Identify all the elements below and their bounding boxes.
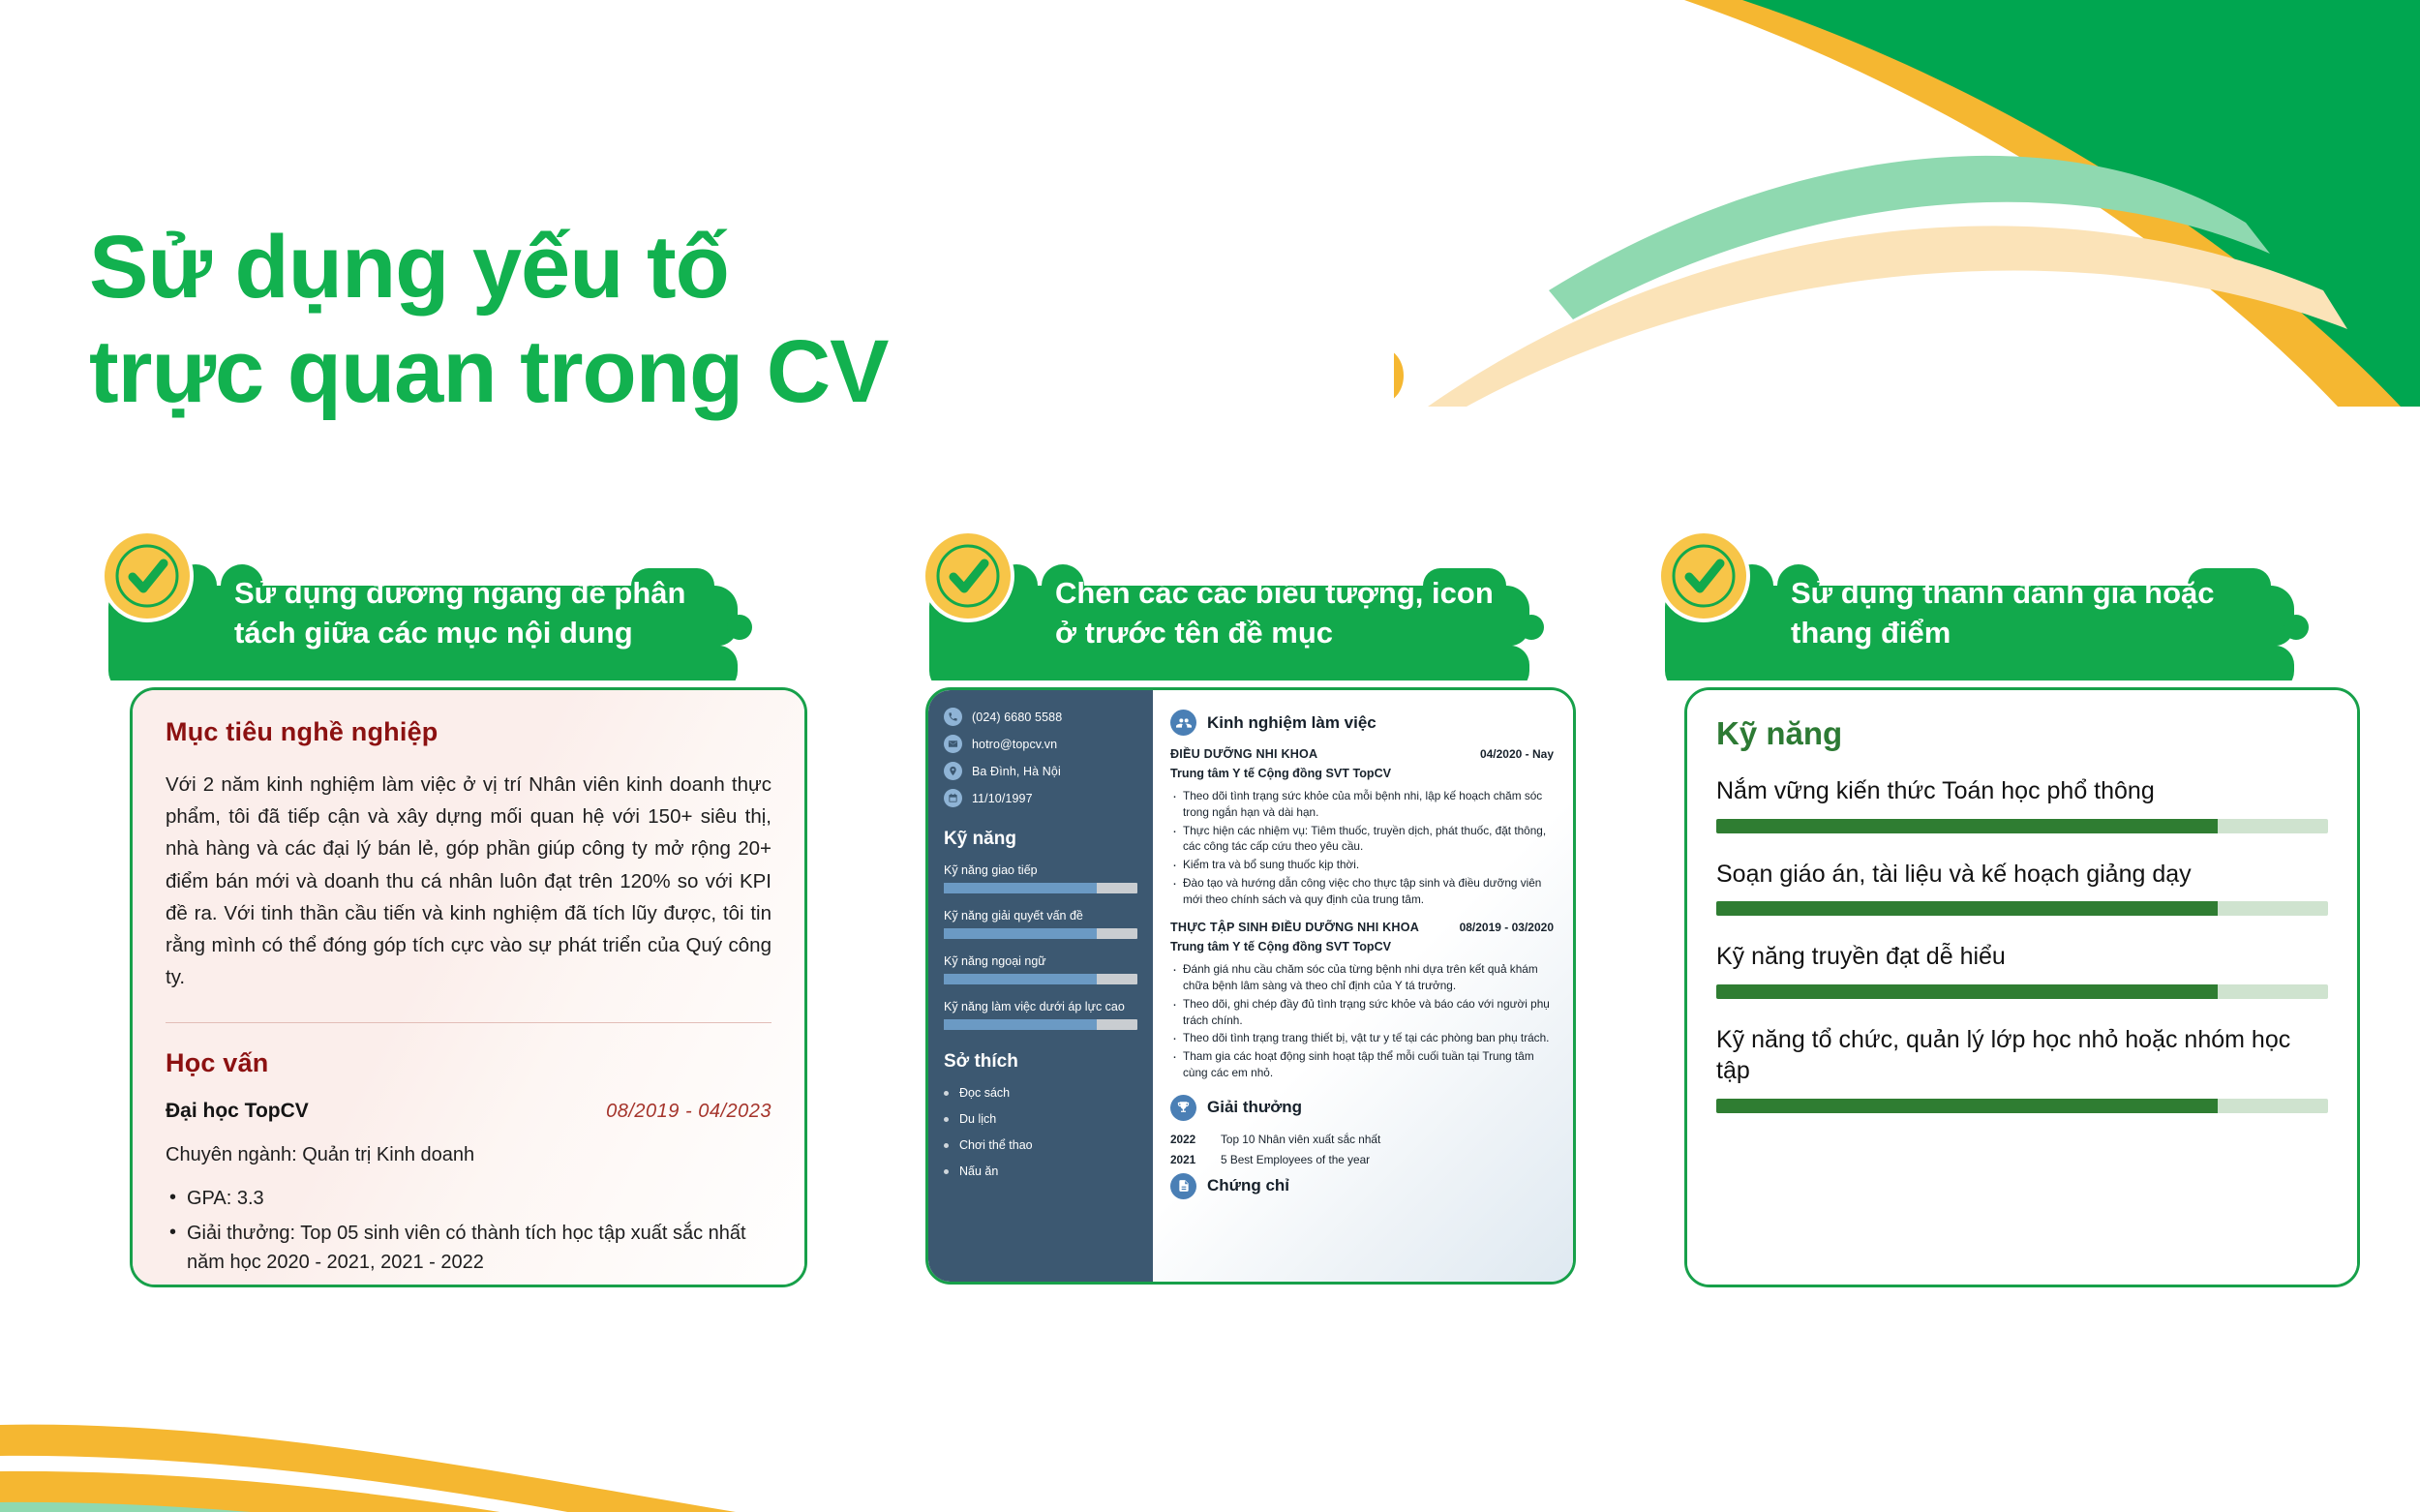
list-item: Đọc sách bbox=[944, 1086, 1137, 1100]
cv-main-column: Kinh nghiệm làm việc ĐIỀU DƯỠNG NHI KHOA… bbox=[1153, 690, 1573, 1282]
people-icon bbox=[1170, 710, 1196, 736]
card-1-panel: Mục tiêu nghề nghiệp Với 2 năm kinh nghi… bbox=[130, 687, 807, 1287]
cv-sample-resume-text: Mục tiêu nghề nghiệp Với 2 năm kinh nghi… bbox=[133, 690, 804, 1285]
phone-icon bbox=[944, 708, 962, 726]
cv-sample-rating-bars: Kỹ năng Nắm vững kiến thức Toán học phổ … bbox=[1687, 690, 2357, 1285]
card-3-banner: Sử dụng thanh đánh giá hoặc thang điểm bbox=[1646, 518, 2362, 687]
education-school: Đại học TopCV bbox=[166, 1100, 309, 1123]
card-row: Sử dụng đường ngang để phân tách giữa cá… bbox=[0, 518, 2420, 1321]
contact-row: 11/10/1997 bbox=[944, 789, 1137, 807]
contact-text: 11/10/1997 bbox=[972, 792, 1033, 805]
mail-icon bbox=[944, 735, 962, 753]
skills-heading: Kỹ năng bbox=[1716, 715, 2328, 752]
list-item: Theo dõi tình trạng trang thiết bị, vật … bbox=[1170, 1030, 1554, 1046]
contact-text: hotro@topcv.vn bbox=[972, 738, 1057, 751]
list-item: Theo dõi, ghi chép đầy đủ tình trạng sức… bbox=[1170, 996, 1554, 1029]
tip-card-2: Chèn các các biểu tượng, icon ở trước tê… bbox=[910, 518, 1588, 1285]
calendar-icon bbox=[944, 789, 962, 807]
skill-label: Kỹ năng giải quyết vấn đề bbox=[944, 909, 1137, 922]
decorative-arcs-top-right bbox=[1394, 0, 2420, 407]
award-year: 2021 bbox=[1170, 1153, 1203, 1166]
job-title: ĐIỀU DƯỠNG NHI KHOA bbox=[1170, 747, 1317, 761]
card-2-banner: Chèn các các biểu tượng, icon ở trước tê… bbox=[910, 518, 1588, 687]
hobby-text: Du lịch bbox=[959, 1112, 996, 1126]
education-bullets: GPA: 3.3 Giải thưởng: Top 05 sinh viên c… bbox=[166, 1184, 771, 1277]
cv-sample-two-column: (024) 6680 5588 hotro@topcv.vn bbox=[928, 690, 1573, 1282]
list-item: Chơi thể thao bbox=[944, 1138, 1137, 1152]
contact-row: (024) 6680 5588 bbox=[944, 708, 1137, 726]
sidebar-skills-heading: Kỹ năng bbox=[944, 829, 1137, 850]
skill-label: Kỹ năng làm việc dưới áp lực cao bbox=[944, 1000, 1137, 1013]
skill-bar bbox=[1716, 819, 2328, 833]
awards-heading: Giải thưởng bbox=[1207, 1098, 1302, 1117]
skill-label: Kỹ năng tổ chức, quản lý lớp học nhỏ hoặ… bbox=[1716, 1024, 2328, 1087]
check-badge-3 bbox=[1655, 528, 1757, 629]
award-text: Top 10 Nhân viên xuất sắc nhất bbox=[1221, 1133, 1380, 1146]
skill-bar bbox=[944, 974, 1137, 984]
card-3-panel: Kỹ năng Nắm vững kiến thức Toán học phổ … bbox=[1684, 687, 2360, 1287]
tip-card-1: Sử dụng đường ngang để phân tách giữa cá… bbox=[89, 518, 834, 1287]
section-divider bbox=[166, 1022, 771, 1023]
award-year: 2022 bbox=[1170, 1133, 1203, 1146]
job-org: Trung tâm Y tế Cộng đồng SVT TopCV bbox=[1170, 767, 1554, 780]
job-date: 04/2020 - Nay bbox=[1480, 747, 1554, 761]
list-item: Đào tạo và hướng dẫn công việc cho thực … bbox=[1170, 875, 1554, 908]
experience-heading: Kinh nghiệm làm việc bbox=[1207, 713, 1376, 733]
list-item: Giải thưởng: Top 05 sinh viên có thành t… bbox=[166, 1219, 771, 1277]
contact-text: Ba Đình, Hà Nội bbox=[972, 765, 1061, 778]
trophy-icon bbox=[1170, 1095, 1196, 1121]
skill-label: Kỹ năng ngoại ngữ bbox=[944, 954, 1137, 968]
contact-row: hotro@topcv.vn bbox=[944, 735, 1137, 753]
education-row: Đại học TopCV 08/2019 - 04/2023 bbox=[166, 1100, 771, 1123]
list-item: Nấu ăn bbox=[944, 1164, 1137, 1178]
skill-label: Nắm vững kiến thức Toán học phổ thông bbox=[1716, 775, 2328, 807]
list-item: GPA: 3.3 bbox=[166, 1184, 771, 1213]
card-2-panel: (024) 6680 5588 hotro@topcv.vn bbox=[925, 687, 1576, 1285]
card-2-heading: Chèn các các biểu tượng, icon ở trước tê… bbox=[1055, 574, 1588, 653]
skill-bar bbox=[944, 1019, 1137, 1030]
list-item: Theo dõi tình trạng sức khỏe của mỗi bện… bbox=[1170, 788, 1554, 821]
list-item: Du lịch bbox=[944, 1112, 1137, 1126]
hobby-text: Chơi thể thao bbox=[959, 1138, 1033, 1152]
skill-bar bbox=[1716, 984, 2328, 999]
skill-bar bbox=[944, 883, 1137, 893]
job-date: 08/2019 - 03/2020 bbox=[1460, 921, 1554, 934]
job-org: Trung tâm Y tế Cộng đồng SVT TopCV bbox=[1170, 940, 1554, 953]
job-title: THỰC TẬP SINH ĐIỀU DƯỠNG NHI KHOA bbox=[1170, 921, 1419, 934]
check-badge-2 bbox=[920, 528, 1021, 629]
certificate-heading-row: Chứng chỉ bbox=[1170, 1173, 1554, 1199]
cv-sidebar: (024) 6680 5588 hotro@topcv.vn bbox=[928, 690, 1153, 1282]
skill-bar bbox=[1716, 1099, 2328, 1113]
card-1-banner: Sử dụng đường ngang để phân tách giữa cá… bbox=[89, 518, 834, 687]
skill-bar bbox=[1716, 901, 2328, 916]
sidebar-hobbies-heading: Sở thích bbox=[944, 1051, 1137, 1073]
hobby-text: Nấu ăn bbox=[959, 1164, 998, 1178]
contact-text: (024) 6680 5588 bbox=[972, 711, 1062, 724]
document-icon bbox=[1170, 1173, 1196, 1199]
job-header: ĐIỀU DƯỠNG NHI KHOA 04/2020 - Nay bbox=[1170, 747, 1554, 761]
skill-bar bbox=[944, 928, 1137, 939]
award-row: 2022 Top 10 Nhân viên xuất sắc nhất bbox=[1170, 1133, 1554, 1146]
tip-card-3: Sử dụng thanh đánh giá hoặc thang điểm K… bbox=[1646, 518, 2362, 1287]
job-bullets: Theo dõi tình trạng sức khỏe của mỗi bện… bbox=[1170, 788, 1554, 907]
list-item: Kiểm tra và bổ sung thuốc kịp thời. bbox=[1170, 857, 1554, 873]
card-3-heading: Sử dụng thanh đánh giá hoặc thang điểm bbox=[1791, 574, 2343, 653]
education-heading: Học vấn bbox=[166, 1048, 771, 1078]
check-badge-1 bbox=[99, 528, 200, 629]
list-item: Tham gia các hoạt động sinh hoạt tập thể… bbox=[1170, 1048, 1554, 1081]
skill-label: Kỹ năng giao tiếp bbox=[944, 863, 1137, 877]
objective-body: Với 2 năm kinh nghiệm làm việc ở vị trí … bbox=[166, 769, 771, 993]
experience-heading-row: Kinh nghiệm làm việc bbox=[1170, 710, 1554, 736]
skill-label: Kỹ năng truyền đạt dễ hiểu bbox=[1716, 941, 2328, 973]
list-item: Thực hiện các nhiệm vụ: Tiêm thuốc, truy… bbox=[1170, 823, 1554, 856]
page-title: Sử dụng yếu tố trực quan trong CV bbox=[89, 215, 889, 425]
job-header: THỰC TẬP SINH ĐIỀU DƯỠNG NHI KHOA 08/201… bbox=[1170, 921, 1554, 934]
job-bullets: Đánh giá nhu cầu chăm sóc của từng bệnh … bbox=[1170, 961, 1554, 1080]
objective-heading: Mục tiêu nghề nghiệp bbox=[166, 717, 771, 747]
card-1-heading: Sử dụng đường ngang để phân tách giữa cá… bbox=[234, 574, 805, 653]
list-item: Đánh giá nhu cầu chăm sóc của từng bệnh … bbox=[1170, 961, 1554, 994]
hobby-text: Đọc sách bbox=[959, 1086, 1010, 1100]
skill-label: Soạn giáo án, tài liệu và kế hoạch giảng… bbox=[1716, 859, 2328, 891]
award-text: 5 Best Employees of the year bbox=[1221, 1153, 1370, 1166]
location-icon bbox=[944, 762, 962, 780]
education-major: Chuyên ngành: Quản trị Kinh doanh bbox=[166, 1144, 771, 1166]
education-date: 08/2019 - 04/2023 bbox=[606, 1101, 771, 1123]
contact-row: Ba Đình, Hà Nội bbox=[944, 762, 1137, 780]
slide-canvas: Sử dụng yếu tố trực quan trong CV Sử d bbox=[0, 0, 2420, 1512]
certificate-heading: Chứng chỉ bbox=[1207, 1176, 1289, 1195]
awards-heading-row: Giải thưởng bbox=[1170, 1095, 1554, 1121]
award-row: 2021 5 Best Employees of the year bbox=[1170, 1153, 1554, 1166]
